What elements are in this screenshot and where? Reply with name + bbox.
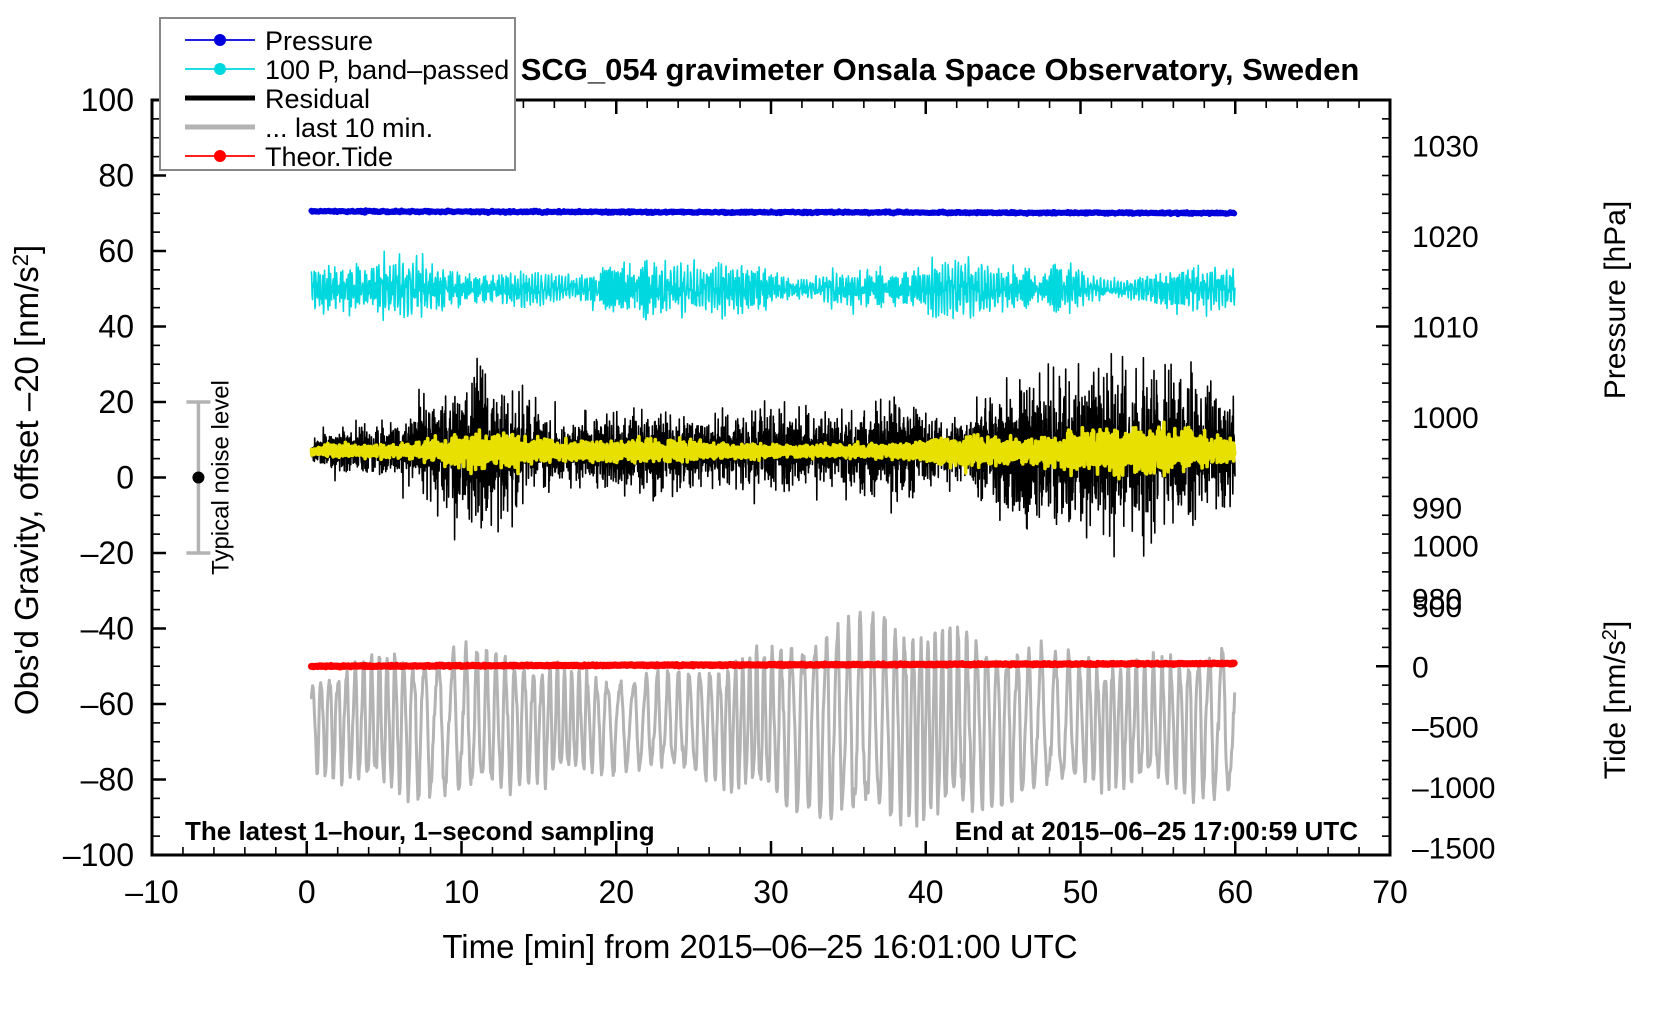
y-tick-label: 60 [98, 233, 134, 269]
y-tick-label: 20 [98, 384, 134, 420]
trace-theor-tide [311, 663, 1234, 667]
tide-tick-label: 0 [1412, 651, 1429, 684]
tide-tick-label: –1000 [1412, 772, 1495, 805]
pressure-tick-label: 1030 [1412, 130, 1479, 163]
pressure-tick-label: 1020 [1412, 221, 1479, 254]
y-tick-label: 100 [81, 82, 134, 118]
footer-right-text: End at 2015–06–25 17:00:59 UTC [955, 816, 1358, 846]
y-axis-title-left: Obs'd Gravity, offset –20 [nm/s2] [8, 245, 45, 715]
legend[interactable]: Pressure100 P, band–passedResidual... la… [160, 18, 515, 172]
legend-swatch-marker [214, 63, 226, 75]
chart-title: SCG_054 gravimeter Onsala Space Observat… [521, 52, 1360, 87]
y-tick-label: –60 [81, 686, 134, 722]
noise-bar-label: Typical noise level [207, 380, 234, 575]
y-tick-label: –80 [81, 762, 134, 798]
x-tick-label: –10 [125, 874, 178, 910]
legend-label: Pressure [265, 26, 373, 56]
x-axis-title: Time [min] from 2015–06–25 16:01:00 UTC [442, 928, 1077, 965]
gravimeter-time-series-chart: –10010203040506070 100806040200–20–40–60… [0, 0, 1660, 1020]
legend-swatch-marker [214, 34, 226, 46]
y-tick-label: –100 [63, 837, 134, 873]
legend-label: 100 P, band–passed [265, 55, 509, 85]
x-tick-label: 0 [298, 874, 316, 910]
x-tick-label: 40 [908, 874, 944, 910]
x-tick-label: 70 [1372, 874, 1408, 910]
x-tick-label: 20 [598, 874, 634, 910]
x-tick-label: 30 [753, 874, 789, 910]
y-axis-title-pressure: Pressure [hPa] [1599, 201, 1632, 399]
trace-pressure [311, 210, 1234, 214]
footer-left-text: The latest 1–hour, 1–second sampling [185, 816, 655, 846]
tide-tick-label: –500 [1412, 712, 1479, 745]
y-tick-label: 0 [116, 460, 134, 496]
y-tick-label: –40 [81, 611, 134, 647]
tide-tick-label: 500 [1412, 591, 1462, 624]
legend-label: Residual [265, 84, 370, 114]
pressure-tick-label: 1010 [1412, 312, 1479, 345]
pressure-tick-label: 990 [1412, 493, 1462, 526]
y-axis-title-tide: Tide [nm/s2] [1599, 621, 1632, 779]
legend-label: Theor.Tide [265, 142, 393, 172]
y-tick-label: 80 [98, 158, 134, 194]
noise-bar-dot [192, 472, 204, 484]
y-tick-label: –20 [81, 535, 134, 571]
x-tick-label: 10 [444, 874, 480, 910]
legend-label: ... last 10 min. [265, 113, 433, 143]
legend-swatch-marker [214, 150, 226, 162]
x-tick-label: 60 [1217, 874, 1253, 910]
y-tick-label: 40 [98, 309, 134, 345]
x-tick-label: 50 [1063, 874, 1099, 910]
tide-tick-label: –1500 [1412, 832, 1495, 865]
chart-page: –10010203040506070 100806040200–20–40–60… [0, 0, 1660, 1020]
tide-tick-label: 1000 [1412, 530, 1479, 563]
pressure-tick-label: 1000 [1412, 402, 1479, 435]
